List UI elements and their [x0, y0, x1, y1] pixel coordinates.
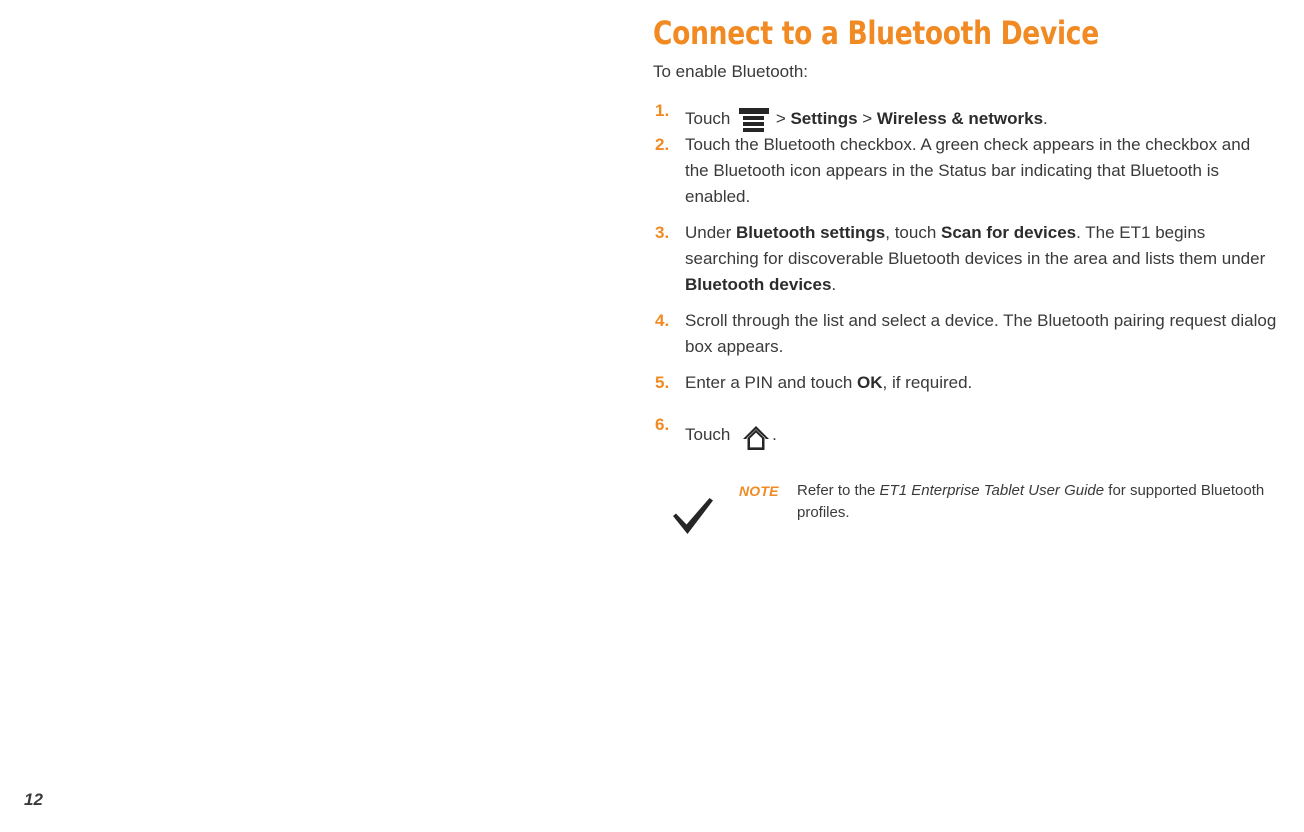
- step-text-fragment: .: [772, 425, 777, 444]
- android-menu-icon: [739, 108, 769, 134]
- step-text-fragment: >: [771, 109, 790, 128]
- note-text-before: Refer to the: [797, 482, 880, 499]
- note-text: Refer to the ET1 Enterprise Tablet User …: [797, 480, 1278, 524]
- step-number: 5.: [655, 370, 669, 396]
- procedure-step-list: 1. Touch > Settings > Wireless & network…: [653, 98, 1278, 448]
- step-text: Enter a PIN and touch OK, if required.: [685, 373, 972, 392]
- step-text-bold: Bluetooth settings: [736, 223, 885, 242]
- document-page: Connect to a Bluetooth Device To enable …: [0, 0, 1304, 832]
- step-text-bold: Scan for devices: [941, 223, 1076, 242]
- step-text-fragment: Touch: [685, 109, 735, 128]
- intro-text: To enable Bluetooth:: [653, 51, 1278, 84]
- note-callout: NOTE Refer to the ET1 Enterprise Tablet …: [670, 476, 1278, 546]
- list-item: 5. Enter a PIN and touch OK, if required…: [653, 370, 1278, 396]
- step-text-fragment: .: [831, 275, 836, 294]
- step-text-fragment: >: [858, 109, 877, 128]
- page-title: Connect to a Bluetooth Device: [653, 0, 1228, 51]
- step-text-fragment: , touch: [885, 223, 941, 242]
- list-item: 6. Touch .: [653, 412, 1278, 448]
- step-text-fragment: Touch: [685, 425, 735, 444]
- step-number: 3.: [655, 220, 669, 246]
- step-text: Touch .: [685, 425, 777, 444]
- list-item: 1. Touch > Settings > Wireless & network…: [653, 98, 1278, 132]
- step-text-bold: Bluetooth devices: [685, 275, 831, 294]
- step-number: 6.: [655, 412, 669, 438]
- step-number: 4.: [655, 308, 669, 334]
- step-text: Touch the Bluetooth checkbox. A green ch…: [685, 135, 1250, 206]
- step-text-bold: OK: [857, 373, 883, 392]
- note-text-italic: ET1 Enterprise Tablet User Guide: [880, 482, 1105, 499]
- step-text-fragment: Enter a PIN and touch: [685, 373, 857, 392]
- step-text: Scroll through the list and select a dev…: [685, 311, 1276, 356]
- list-item: 4. Scroll through the list and select a …: [653, 308, 1278, 360]
- step-text-fragment: Under: [685, 223, 736, 242]
- list-item: 3. Under Bluetooth settings, touch Scan …: [653, 220, 1278, 298]
- page-number: 12: [24, 790, 43, 810]
- step-number: 2.: [655, 132, 669, 158]
- step-text: Touch > Settings > Wireless & networks.: [685, 109, 1048, 128]
- checkmark-icon: [670, 494, 716, 540]
- content-column: Connect to a Bluetooth Device To enable …: [653, 0, 1278, 546]
- step-number: 1.: [655, 98, 669, 124]
- step-text-fragment: .: [1043, 109, 1048, 128]
- list-item: 2. Touch the Bluetooth checkbox. A green…: [653, 132, 1278, 210]
- step-text-fragment: , if required.: [883, 373, 973, 392]
- step-text: Under Bluetooth settings, touch Scan for…: [685, 223, 1265, 294]
- home-icon: [741, 424, 771, 452]
- step-text-bold: Settings: [790, 109, 857, 128]
- note-label: NOTE: [739, 480, 797, 502]
- note-body: NOTE Refer to the ET1 Enterprise Tablet …: [739, 476, 1278, 524]
- step-text-bold: Wireless & networks: [877, 109, 1043, 128]
